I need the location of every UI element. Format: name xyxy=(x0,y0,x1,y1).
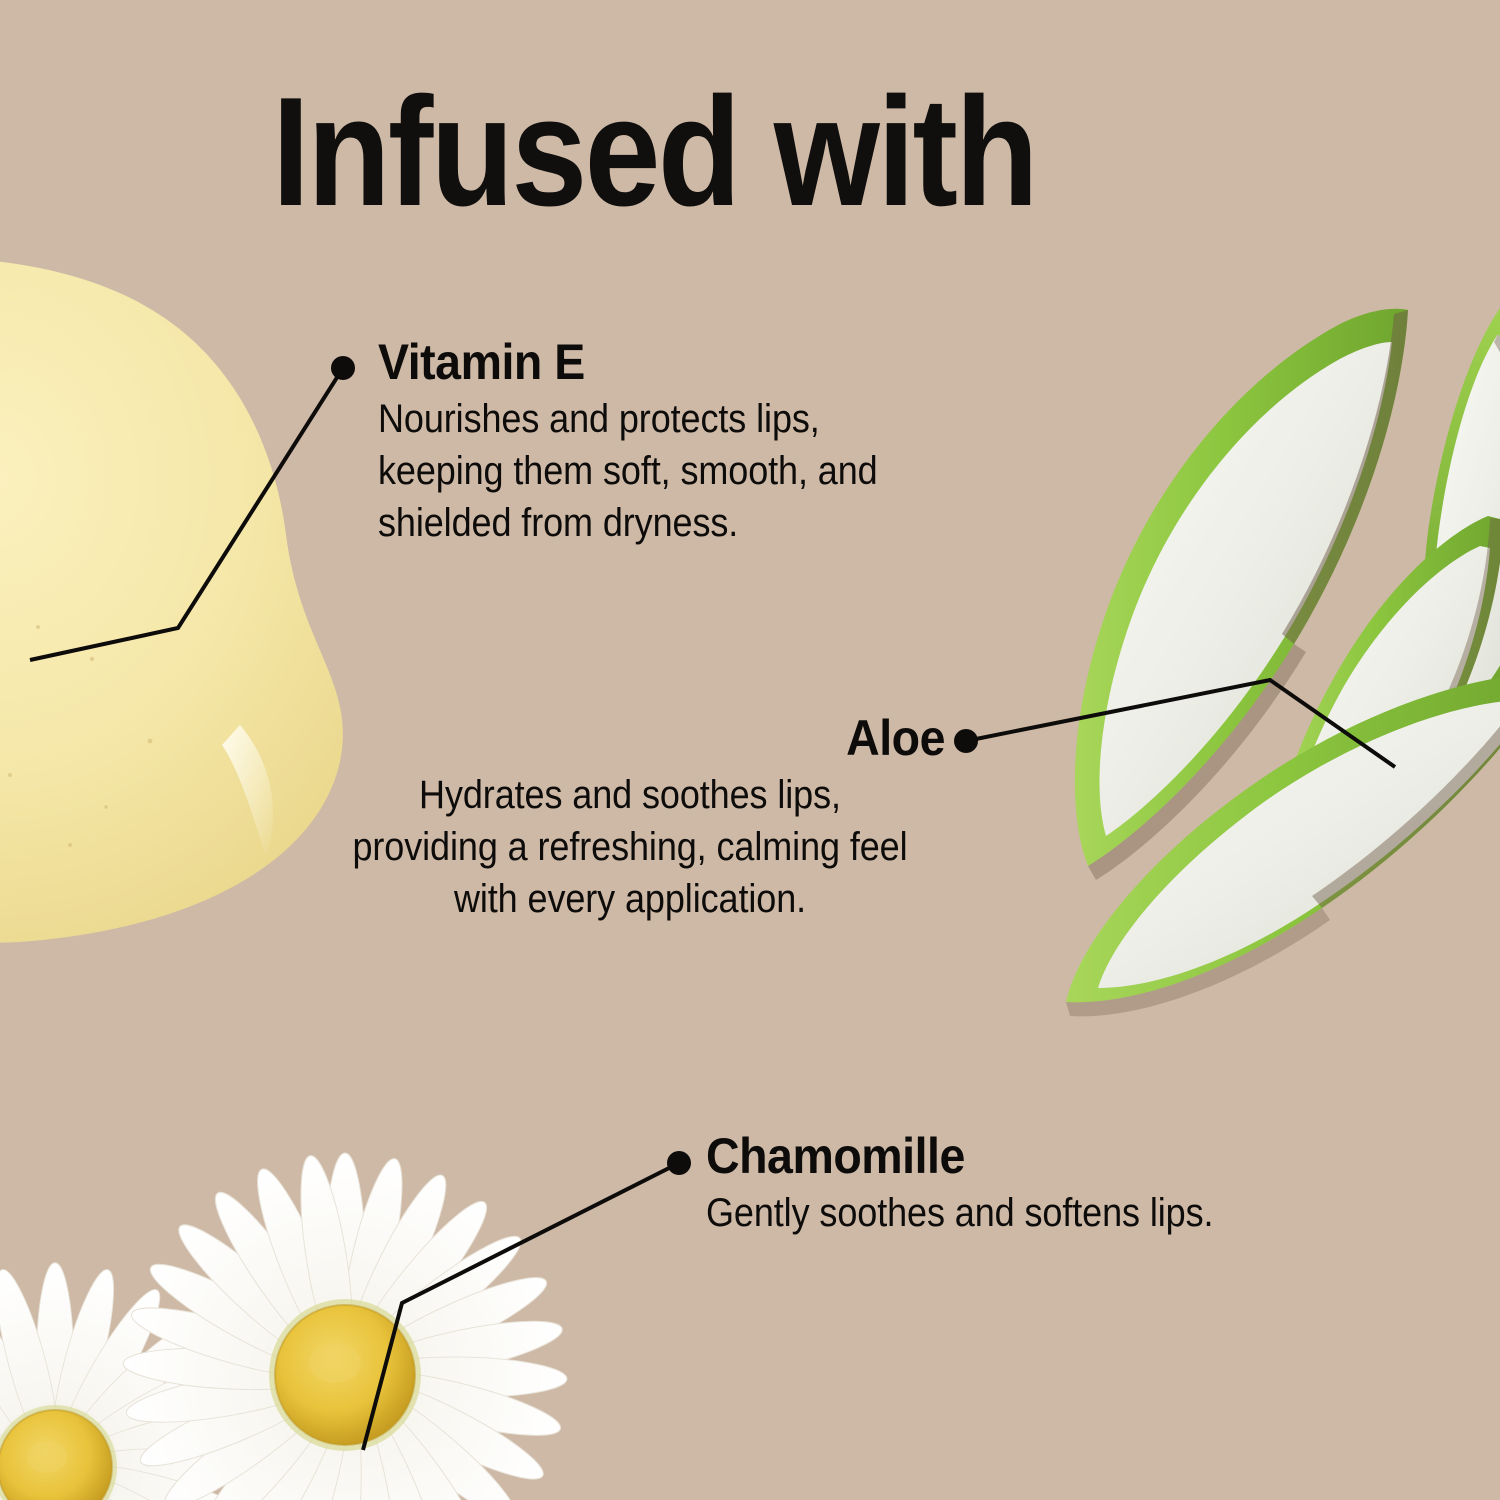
ingredient-callout-chamomille: Chamomille Gently soothes and softens li… xyxy=(706,1130,1366,1239)
ingredient-callout-aloe: Aloe Hydrates and soothes lips, providin… xyxy=(245,712,945,925)
leader-dot-vitamin-e xyxy=(331,356,355,380)
page-title: Infused with xyxy=(272,74,1036,229)
desc-line: with every application. xyxy=(454,877,806,921)
ingredient-name-chamomille: Chamomille xyxy=(706,1130,1320,1183)
ingredient-name-vitamin-e: Vitamin E xyxy=(378,336,973,389)
desc-line: shielded from dryness. xyxy=(378,501,738,545)
desc-line: keeping them soft, smooth, and xyxy=(378,449,878,493)
ingredient-description-aloe: Hydrates and soothes lips, providing a r… xyxy=(315,769,945,925)
leader-dot-aloe xyxy=(954,729,978,753)
leader-line-aloe xyxy=(966,680,1395,767)
desc-line: Hydrates and soothes lips, xyxy=(419,773,841,817)
leader-line-chamomille xyxy=(363,1163,679,1450)
infographic-canvas: Infused with Vitamin E Nourishes and pro… xyxy=(0,0,1500,1500)
desc-line: providing a refreshing, calming feel xyxy=(352,825,907,869)
ingredient-name-aloe: Aloe xyxy=(294,712,945,765)
ingredient-description-chamomille: Gently soothes and softens lips. xyxy=(706,1187,1300,1239)
ingredient-callout-vitamin-e: Vitamin E Nourishes and protects lips, k… xyxy=(378,336,1018,549)
leader-line-vitamin-e xyxy=(30,368,343,660)
desc-line: Nourishes and protects lips, xyxy=(378,397,820,441)
ingredient-description-vitamin-e: Nourishes and protects lips, keeping the… xyxy=(378,393,954,549)
desc-line: Gently soothes and softens lips. xyxy=(706,1191,1213,1235)
leader-dot-chamomille xyxy=(667,1151,691,1175)
